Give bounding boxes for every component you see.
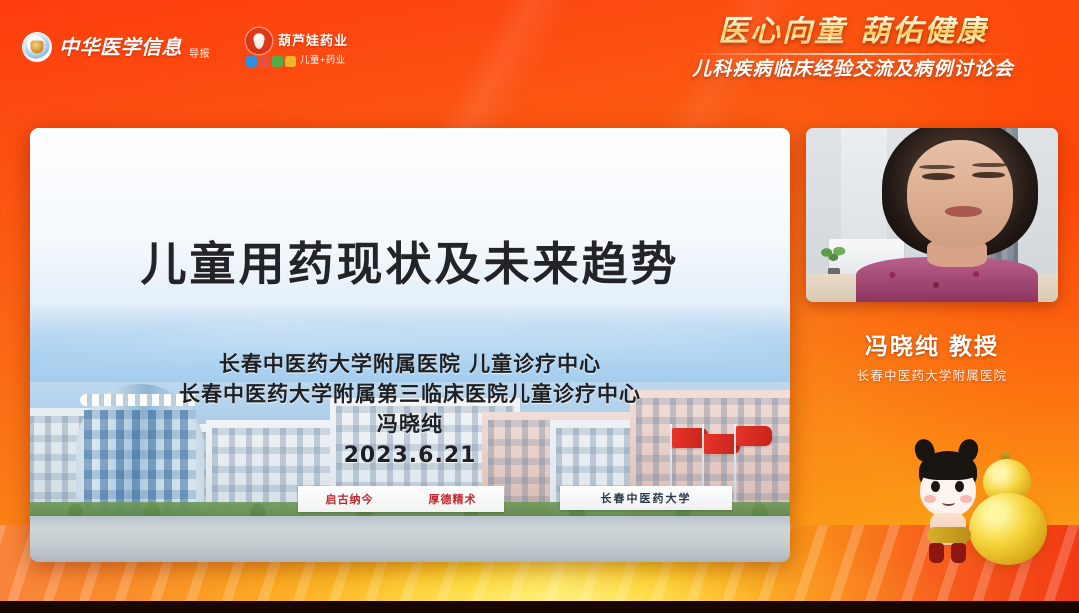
header-logo-bar: 中华医学信息 导报 葫芦娃药业 儿童+药业 <box>22 26 348 68</box>
presentation-slide[interactable]: 启古纳今 厚德精术 长春中医药大学 儿童用药现状及未来趋势 长春中医药大学附属医… <box>30 128 790 562</box>
gourd-badge-icon <box>246 28 272 54</box>
logo-huluwa-tagline: 儿童+药业 <box>300 56 346 66</box>
huluwa-mascot <box>903 437 1051 577</box>
stage-footer-bar <box>0 601 1079 613</box>
slide-title: 儿童用药现状及未来趋势 <box>30 228 790 294</box>
event-title: 医心向童葫佑健康 <box>718 16 988 48</box>
logo-huluwa-wordmark: 葫芦娃药业 <box>278 34 348 47</box>
slide-line-author: 冯晓纯 <box>30 410 790 440</box>
speaker-organization: 长春中医药大学附属医院 <box>806 369 1058 384</box>
speaker-mouth <box>945 206 983 216</box>
campus-plaza <box>30 516 790 562</box>
logo-china-medical-tribune: 中华医学信息 导报 <box>22 32 210 62</box>
speaker-name-line: 冯晓纯教授 <box>806 334 1058 362</box>
campus-sign-text: 长春中医药大学 <box>601 490 692 506</box>
speaker-brow-left <box>919 165 954 170</box>
title-underline <box>688 53 1018 55</box>
speaker-face <box>907 140 1013 248</box>
event-title-part2: 葫佑健康 <box>860 14 988 49</box>
medical-seal-icon <box>22 32 52 62</box>
color-chips-icon <box>246 56 296 67</box>
campus-motto-wall: 启古纳今 厚德精术 <box>298 486 504 512</box>
speaker-title: 教授 <box>949 334 999 360</box>
video-wall <box>841 128 886 253</box>
motto-left: 启古纳今 <box>326 491 374 507</box>
slide-subtitle-block: 长春中医药大学附属医院 儿童诊疗中心 长春中医药大学附属第三临床医院儿童诊疗中心… <box>30 350 790 472</box>
slide-line-hospital: 长春中医药大学附属第三临床医院儿童诊疗中心 <box>30 380 790 410</box>
slide-line-date: 2023.6.21 <box>30 439 790 472</box>
logo-cmt-wordmark: 中华医学信息 <box>59 37 182 57</box>
motto-right: 厚德精术 <box>429 491 477 507</box>
broadcast-stage: 中华医学信息 导报 葫芦娃药业 儿童+药业 医心向童葫佑健康 儿科疾病临床经验交… <box>0 0 1079 613</box>
event-title-block: 医心向童葫佑健康 儿科疾病临床经验交流及病例讨论会 <box>653 16 1053 80</box>
speaker-name: 冯晓纯 <box>865 334 940 360</box>
slide-line-department: 长春中医药大学附属医院 儿童诊疗中心 <box>30 350 790 380</box>
logo-cmt-suffix: 导报 <box>189 50 210 62</box>
speaker-panel: 冯晓纯教授 长春中医药大学附属医院 <box>806 128 1058 384</box>
event-title-part1: 医心向童 <box>718 14 846 49</box>
huluwa-boy-icon <box>907 447 993 573</box>
logo-huluwa-pharma: 葫芦娃药业 儿童+药业 <box>246 28 348 67</box>
campus-name-sign: 长春中医药大学 <box>560 486 732 510</box>
event-subtitle: 儿科疾病临床经验交流及病例讨论会 <box>653 59 1053 80</box>
speaker-video-feed[interactable] <box>806 128 1058 302</box>
